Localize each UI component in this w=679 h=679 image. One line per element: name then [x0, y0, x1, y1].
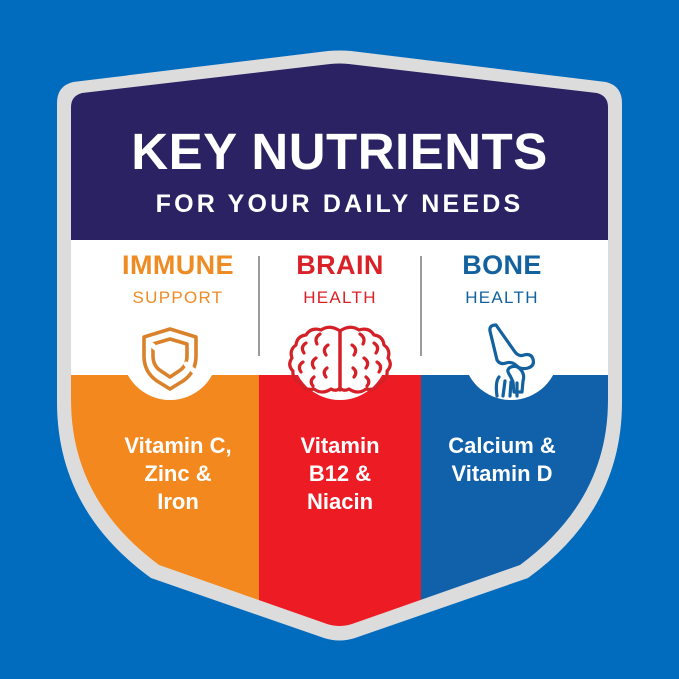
immune-color-block	[0, 375, 259, 679]
bone-color-block	[421, 375, 679, 679]
shield-graphic	[0, 0, 679, 679]
header-band	[0, 0, 679, 240]
key-nutrients-infographic: KEY NUTRIENTS FOR YOUR DAILY NEEDS IMMUN…	[0, 0, 679, 679]
immune-icon-cutout	[122, 304, 218, 400]
